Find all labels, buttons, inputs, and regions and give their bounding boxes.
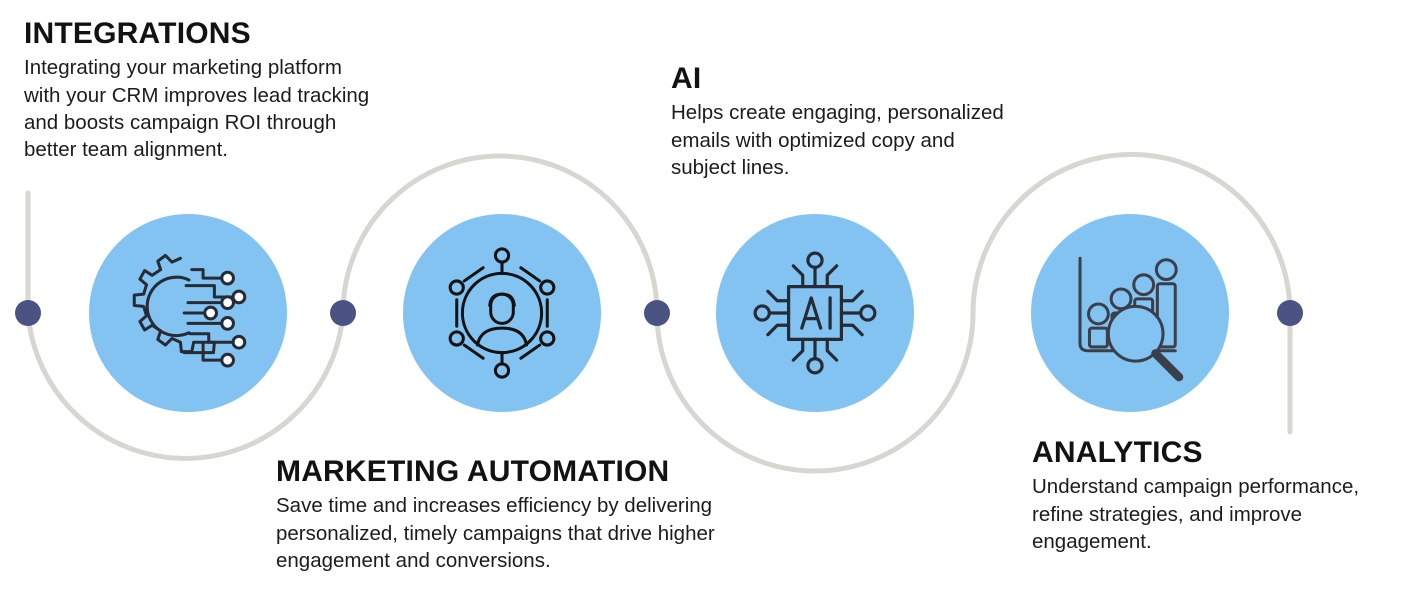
stage-text-analytics: ANALYTICS Understand campaign performanc…	[1032, 437, 1422, 555]
stage-icon-circle-integrations	[89, 214, 287, 412]
stage-body-line: subject lines.	[671, 154, 1071, 181]
stage-title-integrations: INTEGRATIONS	[24, 18, 444, 50]
connector-dot-0	[15, 300, 41, 326]
stage-body-line: engagement.	[1032, 528, 1422, 555]
stage-title-marketing-automation: MARKETING AUTOMATION	[276, 456, 796, 488]
stage-body-line: engagement and conversions.	[276, 547, 796, 574]
stage-icon-circle-marketing-automation	[403, 214, 601, 412]
connector-dot-3	[1277, 300, 1303, 326]
user-network-icon	[436, 247, 568, 379]
gear-circuit-icon	[122, 247, 254, 379]
ai-chip-icon	[749, 247, 881, 379]
stage-body-line: emails with optimized copy and	[671, 127, 1071, 154]
stage-body-line: refine strategies, and improve	[1032, 501, 1422, 528]
stage-body-marketing-automation: Save time and increases efficiency by de…	[276, 492, 796, 574]
stage-body-line: Helps create engaging, personalized	[671, 99, 1071, 126]
stage-body-analytics: Understand campaign performance, refine …	[1032, 473, 1422, 555]
stage-body-line: Save time and increases efficiency by de…	[276, 492, 796, 519]
stage-body-integrations: Integrating your marketing platform with…	[24, 54, 444, 163]
stage-body-line: Understand campaign performance,	[1032, 473, 1422, 500]
stage-body-line: personalized, timely campaigns that driv…	[276, 520, 796, 547]
stage-text-integrations: INTEGRATIONS Integrating your marketing …	[24, 18, 444, 163]
connector-dot-2	[644, 300, 670, 326]
stage-body-ai: Helps create engaging, personalized emai…	[671, 99, 1071, 181]
stage-body-line: better team alignment.	[24, 136, 444, 163]
stage-icon-circle-ai	[716, 214, 914, 412]
stage-body-line: and boosts campaign ROI through	[24, 109, 444, 136]
stage-title-ai: AI	[671, 63, 1071, 95]
stage-body-line: Integrating your marketing platform	[24, 54, 444, 81]
infographic-stage: INTEGRATIONS Integrating your marketing …	[0, 0, 1422, 610]
stage-text-marketing-automation: MARKETING AUTOMATION Save time and incre…	[276, 456, 796, 574]
connector-dot-1	[330, 300, 356, 326]
stage-title-analytics: ANALYTICS	[1032, 437, 1422, 469]
stage-text-ai: AI Helps create engaging, personalized e…	[671, 63, 1071, 181]
stage-icon-circle-analytics	[1031, 214, 1229, 412]
stage-body-line: with your CRM improves lead tracking	[24, 82, 444, 109]
bar-chart-magnifier-icon	[1064, 247, 1196, 379]
